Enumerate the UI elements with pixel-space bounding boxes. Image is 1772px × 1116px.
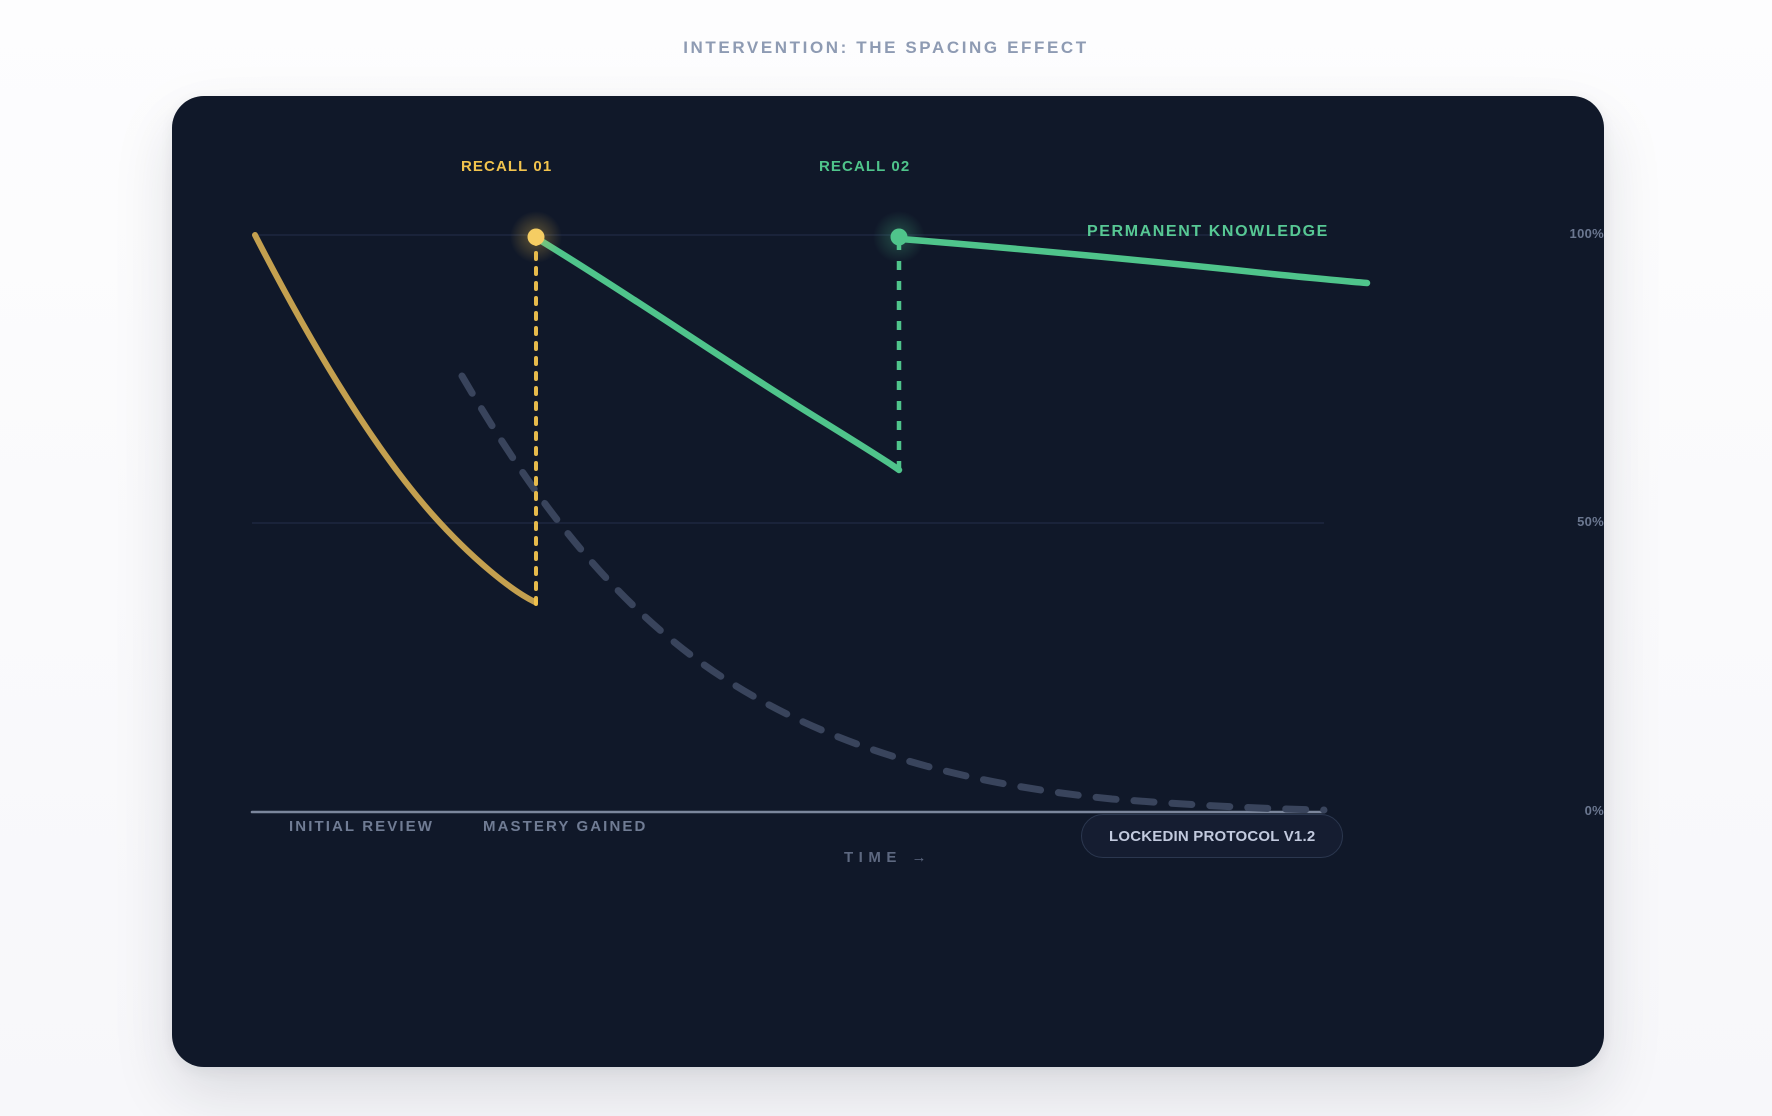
protocol-version-badge: LOCKEDIN PROTOCOL V1.2 [1081, 814, 1343, 858]
gridlines [252, 235, 1324, 523]
page-root: INTERVENTION: THE SPACING EFFECT [0, 0, 1772, 1116]
recall-02-label: RECALL 02 [819, 158, 910, 175]
x-axis-label: TIME → [172, 849, 1604, 866]
forgetting-curve-dashed [462, 376, 1324, 810]
page-title: INTERVENTION: THE SPACING EFFECT [0, 38, 1772, 58]
retention-curve-1 [538, 239, 899, 470]
recall-01-marker[interactable] [510, 211, 562, 263]
footer-initial-review: INITIAL REVIEW [289, 818, 434, 835]
chart-svg [172, 96, 1604, 1067]
y-axis-tick-0: 0% [1534, 803, 1604, 818]
permanent-knowledge-curve [901, 239, 1367, 283]
chart-card: 100% 50% 0% TIME → RECALL 01 RECALL 02 P… [172, 96, 1604, 1067]
recall-01-label: RECALL 01 [461, 158, 552, 175]
recall-02-marker[interactable] [873, 211, 925, 263]
footer-mastery-gained: MASTERY GAINED [483, 818, 647, 835]
y-axis-tick-100: 100% [1534, 226, 1604, 241]
permanent-knowledge-label: PERMANENT KNOWLEDGE [1087, 223, 1329, 241]
initial-decay-curve [255, 235, 535, 602]
y-axis-tick-50: 50% [1534, 514, 1604, 529]
